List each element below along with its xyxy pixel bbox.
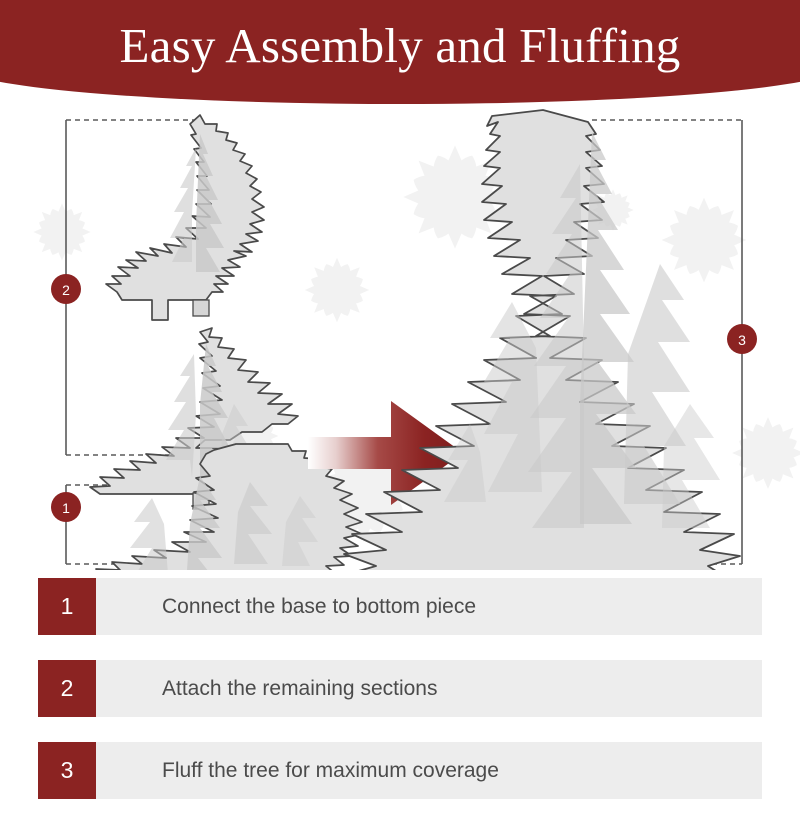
measure-badge-3: 3 [727,324,757,354]
step-label-2: Attach the remaining sections [162,660,437,717]
step-row-1: 1 Connect the base to bottom piece [0,578,800,635]
assembled-tree-graphic [344,110,740,570]
snowflake-icon [662,198,747,283]
measure-badge-3-label: 3 [738,332,746,348]
measure-badge-1: 1 [51,492,81,522]
tree-section-top [106,115,264,320]
step-label-3: Fluff the tree for maximum coverage [162,742,499,799]
snowflake-icon [305,258,369,322]
step-row-2: 2 Attach the remaining sections [0,660,800,717]
measure-badge-1-label: 1 [62,500,70,516]
steps-list: 1 Connect the base to bottom piece 2 Att… [0,578,800,824]
header-banner: Easy Assembly and Fluffing [0,0,800,104]
step-row-3: 3 Fluff the tree for maximum coverage [0,742,800,799]
step-number-badge-1: 1 [38,578,96,635]
measure-badge-2: 2 [51,274,81,304]
page-title: Easy Assembly and Fluffing [0,0,800,92]
step-number-badge-2: 2 [38,660,96,717]
step-label-1: Connect the base to bottom piece [162,578,476,635]
measure-badge-2-label: 2 [62,282,70,298]
assembly-illustration: 2 1 3 [0,104,800,570]
step-number-badge-3: 3 [38,742,96,799]
snowflake-icon [33,203,90,260]
disassembled-tree-graphic [74,115,362,570]
